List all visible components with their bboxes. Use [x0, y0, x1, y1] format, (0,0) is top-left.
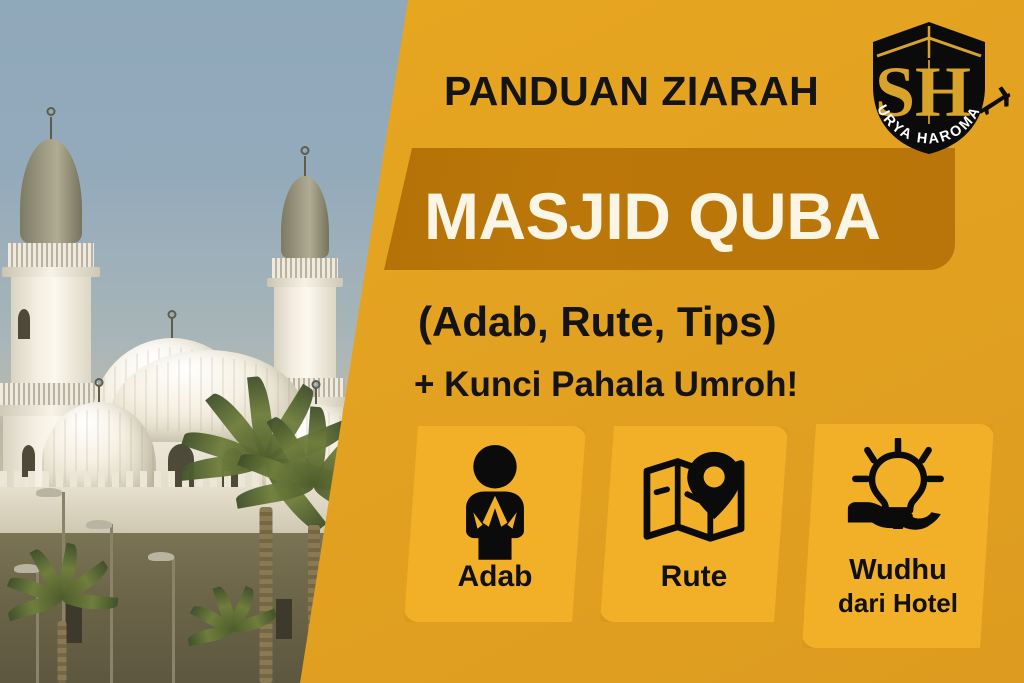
folded-map-pin-icon [641, 450, 747, 546]
feature-card-rute-label: Rute [600, 562, 788, 592]
feature-card-wudhu[interactable]: Wudhu dari Hotel [802, 424, 994, 648]
page-title: MASJID QUBA [424, 178, 881, 254]
feature-card-adab-label: Adab [404, 562, 586, 592]
page-subtitle-primary: (Adab, Rute, Tips) [418, 298, 777, 346]
poster-canvas: PANDUAN ZIARAH MASJID QUBA (Adab, Rute, … [0, 0, 1024, 683]
lightbulb-on-hand-icon [842, 438, 954, 542]
feature-card-wudhu-label-sub: dari Hotel [802, 590, 994, 616]
shrub-1 [198, 624, 268, 683]
palm-tree-3 [22, 592, 102, 683]
feature-card-adab[interactable]: Adab [404, 426, 586, 622]
feature-card-wudhu-label-main: Wudhu [849, 554, 947, 586]
page-kicker: PANDUAN ZIARAH [444, 68, 819, 115]
feature-card-wudhu-label: Wudhu dari Hotel [802, 556, 994, 616]
page-subtitle-secondary: + Kunci Pahala Umroh! [414, 365, 798, 405]
praying-person-icon [443, 444, 547, 566]
brand-logo: SH SURYA HAROMAN [855, 12, 1003, 160]
feature-card-rute[interactable]: Rute [600, 426, 788, 622]
airplane-icon [973, 84, 1013, 124]
